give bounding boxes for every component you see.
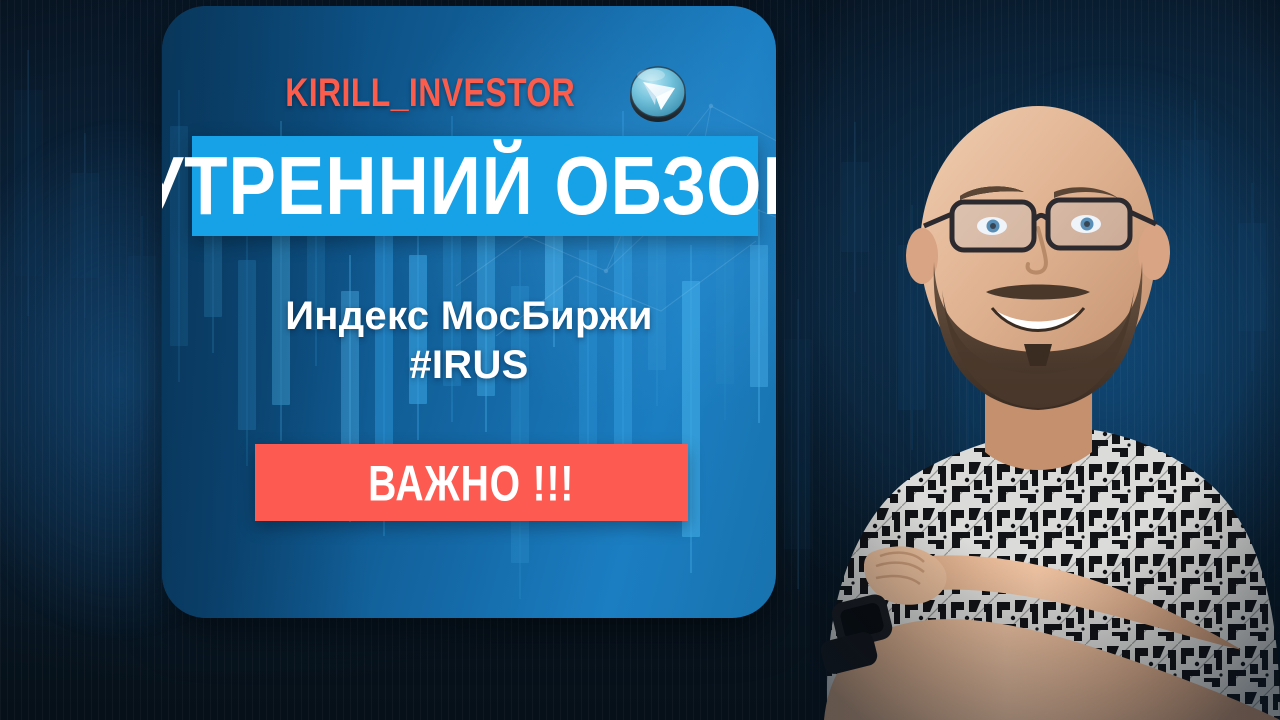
title-banner: УТРЕННИЙ ОБЗОР: [192, 136, 758, 236]
thumbnail-canvas: KIRILL_INVESTOR: [0, 0, 1280, 720]
subtitle-line-index: Индекс МосБиржи: [162, 294, 776, 339]
subtitle-block: Индекс МосБиржи #IRUS: [162, 294, 776, 388]
candlestick-body: [128, 256, 156, 400]
candlestick-body: [784, 339, 812, 549]
brand-row: KIRILL_INVESTOR: [162, 62, 776, 124]
title-text: УТРЕННИЙ ОБЗОР: [162, 149, 776, 224]
telegram-paper-plane-icon[interactable]: [627, 62, 689, 124]
presenter-photo: [810, 0, 1280, 720]
brand-name: KIRILL_INVESTOR: [285, 71, 575, 116]
cta-banner-important[interactable]: ВАЖНО !!!: [255, 444, 688, 521]
candlestick-body: [71, 173, 99, 278]
subtitle-line-ticker: #IRUS: [162, 343, 776, 388]
cta-banner-text: ВАЖНО !!!: [368, 453, 574, 511]
content-card: KIRILL_INVESTOR: [162, 6, 776, 618]
candlestick-body: [14, 90, 42, 276]
